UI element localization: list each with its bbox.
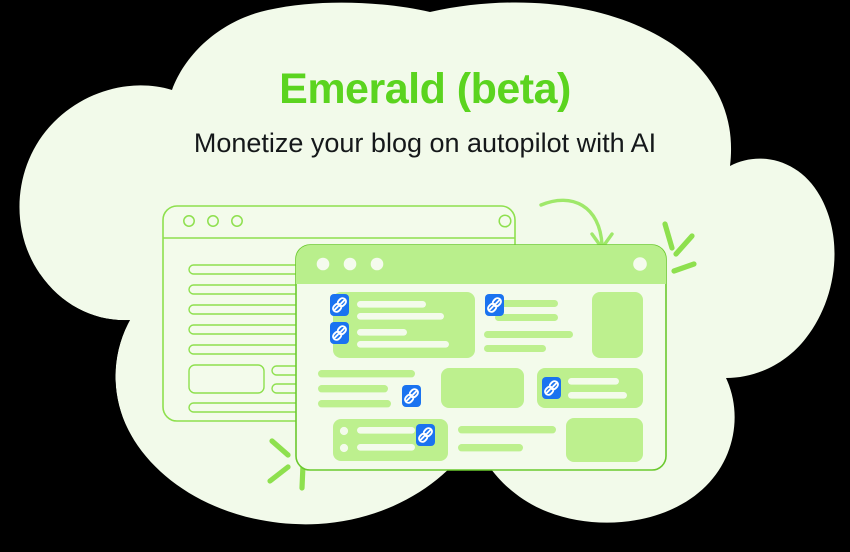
back-line-8: [189, 403, 493, 412]
top-left-bar-1b: [357, 313, 444, 320]
sparkle-ray-2: [676, 236, 692, 254]
bottom-center-bar-2: [458, 444, 523, 451]
sparkle-bl-ray-1: [272, 441, 288, 455]
mid-left-bar-1: [318, 370, 415, 377]
front-window-titlebar: [296, 245, 666, 284]
back-line-6: [272, 366, 493, 375]
top-left-card-bg: [333, 292, 475, 358]
top-left-bar-2a: [357, 329, 407, 336]
sparkle-bl-ray-2: [270, 467, 288, 481]
mid-left-bar-3: [318, 400, 391, 407]
top-right-list: [484, 294, 573, 352]
front-window-dot-2: [344, 258, 357, 271]
top-right-bar-2: [495, 314, 558, 321]
mid-right-card: [537, 368, 643, 408]
mid-left-bar-2: [318, 385, 388, 392]
top-right-bar-4: [484, 345, 546, 352]
sparkle-top-right-icon: [665, 224, 694, 271]
blob-notch-left: [40, 274, 134, 440]
back-window-dot-right: [499, 215, 511, 227]
back-content-box: [189, 365, 264, 393]
bullet-dot-2: [340, 444, 348, 452]
back-window-content-lines: [189, 265, 493, 412]
front-window-dot-1: [317, 258, 330, 271]
bottom-right-block: [566, 418, 643, 462]
illustration-canvas: Emerald (beta) Monetize your blog on aut…: [0, 0, 850, 552]
bottom-center-bars: [458, 426, 556, 451]
sparkle-bottom-left-icon: [270, 441, 303, 488]
top-right-bar-3: [484, 331, 573, 338]
curved-arrow-down-icon: [541, 200, 612, 248]
back-line-2: [189, 285, 493, 294]
mid-right-bar-2: [568, 392, 627, 399]
page-subtitle: Monetize your blog on autopilot with AI: [0, 130, 850, 157]
back-line-4: [189, 325, 493, 334]
sparkle-ray-3: [674, 264, 694, 271]
top-left-card: [330, 292, 475, 358]
top-right-bar-1: [495, 300, 558, 307]
link-badge-5: [542, 377, 561, 399]
back-line-1: [189, 265, 493, 274]
link-badge-3: [485, 294, 504, 316]
link-badge-2: [330, 322, 349, 344]
back-window-frame: [163, 206, 515, 421]
back-line-7: [272, 384, 493, 393]
bullet-bar-2: [357, 444, 415, 451]
back-browser-window: [163, 206, 515, 421]
back-line-3: [189, 305, 493, 314]
back-line-5: [189, 345, 493, 354]
bottom-center-bar-1: [458, 426, 556, 433]
link-badge-6: [416, 424, 435, 446]
bullet-dot-1: [340, 427, 348, 435]
front-browser-window: [296, 245, 666, 470]
mid-center-block: [441, 368, 524, 408]
back-window-dot-1: [184, 216, 194, 226]
bullet-bar-1: [357, 427, 415, 434]
sparkle-bl-ray-3: [302, 465, 303, 488]
front-window-frame: [296, 245, 666, 470]
back-window-dot-2: [208, 216, 218, 226]
top-right-block: [592, 292, 643, 358]
page-title: Emerald (beta): [0, 68, 850, 111]
sparkle-ray-1: [665, 224, 672, 248]
mid-right-bar-1: [568, 378, 619, 385]
front-window-dot-right: [633, 257, 647, 271]
back-window-dot-3: [232, 216, 242, 226]
bottom-left-bullet-card: [333, 419, 448, 461]
mid-left-bars: [318, 370, 421, 407]
front-window-dot-3: [371, 258, 384, 271]
link-badge-4: [402, 385, 421, 407]
link-badge-1: [330, 294, 349, 316]
mid-right-card-bg: [537, 368, 643, 408]
bullet-card-bg: [333, 419, 448, 461]
top-left-bar-2b: [357, 341, 449, 348]
top-left-bar-1a: [357, 301, 426, 308]
